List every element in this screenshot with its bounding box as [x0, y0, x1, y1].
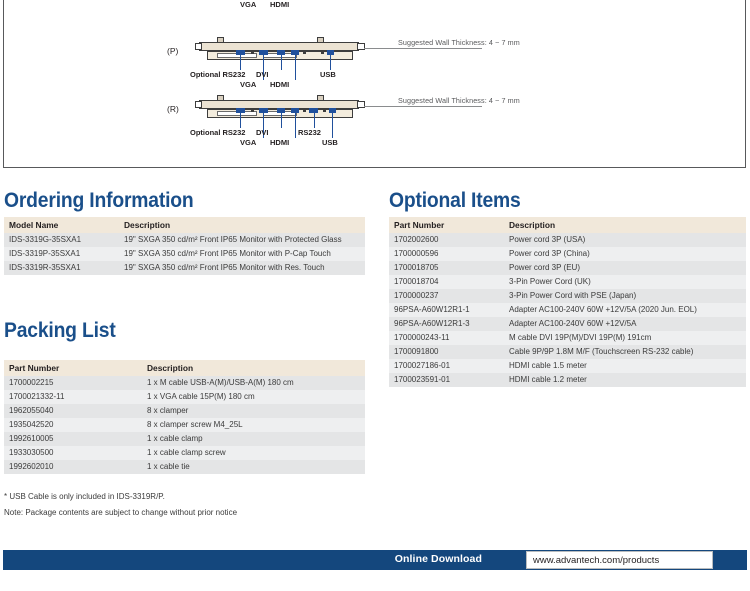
wall-thickness-note: Suggested Wall Thickness: 4 ~ 7 mm: [398, 96, 520, 105]
cell-part-number: 96PSA-A60W12R1-1: [389, 303, 504, 317]
cell-part-number: 1702002600: [389, 233, 504, 247]
table-row: 96PSA-A60W12R1-3 Adapter AC100-240V 60W …: [389, 317, 746, 331]
cell-part-number: 1992602010: [4, 460, 142, 474]
cell-description: 8 x clamper screw M4_25L: [142, 418, 365, 432]
cell-description: Adapter AC100-240V 60W +12V/5A (2020 Jun…: [504, 303, 746, 317]
cell-description: 3-Pin Power Cord (UK): [504, 275, 746, 289]
cell-part-number: 1933030500: [4, 446, 142, 460]
table-row: 1700027186-01 HDMI cable 1.5 meter: [389, 359, 746, 373]
variant-tag-r: (R): [167, 104, 179, 114]
table-row: 1700000237 3-Pin Power Cord with PSE (Ja…: [389, 289, 746, 303]
cell-part-number: 1700023591-01: [389, 373, 504, 387]
cell-description: 1 x cable clamp: [142, 432, 365, 446]
callout-label: HDMI: [270, 138, 289, 147]
diagram-row-3: (R): [4, 98, 746, 154]
callout-label: USB: [320, 70, 336, 79]
table-row: IDS-3319P-35SXA1 19" SXGA 350 cd/m² Fron…: [4, 247, 365, 261]
cell-description: 1 x M cable USB-A(M)/USB-A(M) 180 cm: [142, 376, 365, 390]
packing-footnote-note: Note: Package contents are subject to ch…: [4, 508, 237, 517]
callout-label: RS232: [298, 128, 321, 137]
callout-label: HDMI: [270, 0, 289, 9]
table-row: 1962055040 8 x clamper: [4, 404, 365, 418]
diagram-row-2: (P): [4, 40, 746, 96]
callout-label: VGA: [240, 0, 256, 9]
optional-items-heading: Optional Items: [389, 189, 521, 213]
cell-part-number: 1700000243-11: [389, 331, 504, 345]
callout-label: VGA: [240, 138, 256, 147]
table-row: 1933030500 1 x cable clamp screw: [4, 446, 365, 460]
diagram-row-1: Optional RS232 VGA DVI HDMI Suggested Wa…: [4, 0, 746, 34]
column-header-description: Description: [504, 217, 746, 233]
table-row: IDS-3319R-35SXA1 19" SXGA 350 cd/m² Fron…: [4, 261, 365, 275]
table-row: 1700002215 1 x M cable USB-A(M)/USB-A(M)…: [4, 376, 365, 390]
packing-list-table: Part Number Description 1700002215 1 x M…: [4, 360, 365, 474]
callout-label: Optional RS232: [190, 128, 245, 137]
table-row: 1992602010 1 x cable tie: [4, 460, 365, 474]
mounting-diagram-panel: Optional RS232 VGA DVI HDMI Suggested Wa…: [3, 0, 746, 168]
optional-items-table: Part Number Description 1702002600 Power…: [389, 217, 746, 387]
ordering-information-table: Model Name Description IDS-3319G-35SXA1 …: [4, 217, 365, 275]
cell-description: 19" SXGA 350 cd/m² Front IP65 Monitor wi…: [119, 247, 365, 261]
cell-part-number: 1935042520: [4, 418, 142, 432]
table-row: IDS-3319G-35SXA1 19" SXGA 350 cd/m² Fron…: [4, 233, 365, 247]
table-row: 1700000596 Power cord 3P (China): [389, 247, 746, 261]
table-row: 1700018704 3-Pin Power Cord (UK): [389, 275, 746, 289]
cell-part-number: 1700027186-01: [389, 359, 504, 373]
cell-model-name: IDS-3319R-35SXA1: [4, 261, 119, 275]
column-header-description: Description: [142, 360, 365, 376]
cell-part-number: 1962055040: [4, 404, 142, 418]
table-row: 1992610005 1 x cable clamp: [4, 432, 365, 446]
cell-part-number: 96PSA-A60W12R1-3: [389, 317, 504, 331]
cell-description: 19" SXGA 350 cd/m² Front IP65 Monitor wi…: [119, 261, 365, 275]
table-header-row: Part Number Description: [389, 217, 746, 233]
table-row: 1700021332-11 1 x VGA cable 15P(M) 180 c…: [4, 390, 365, 404]
cell-model-name: IDS-3319P-35SXA1: [4, 247, 119, 261]
cell-description: 8 x clamper: [142, 404, 365, 418]
cell-model-name: IDS-3319G-35SXA1: [4, 233, 119, 247]
callout-label: USB: [322, 138, 338, 147]
cell-description: Power cord 3P (China): [504, 247, 746, 261]
cell-description: 1 x VGA cable 15P(M) 180 cm: [142, 390, 365, 404]
callout-label: DVI: [256, 128, 269, 137]
cell-description: Adapter AC100-240V 60W +12V/5A: [504, 317, 746, 331]
cell-part-number: 1700018704: [389, 275, 504, 289]
cell-part-number: 1700002215: [4, 376, 142, 390]
cell-description: Power cord 3P (USA): [504, 233, 746, 247]
datasheet-page: Optional RS232 VGA DVI HDMI Suggested Wa…: [0, 0, 750, 591]
column-header-part-number: Part Number: [4, 360, 142, 376]
cell-description: 3-Pin Power Cord with PSE (Japan): [504, 289, 746, 303]
callout-label: Optional RS232: [190, 70, 245, 79]
table-header-row: Model Name Description: [4, 217, 365, 233]
column-header-part-number: Part Number: [389, 217, 504, 233]
cell-description: HDMI cable 1.2 meter: [504, 373, 746, 387]
online-download-label: Online Download: [395, 553, 482, 565]
ordering-information-heading: Ordering Information: [4, 189, 194, 213]
table-row: 1935042520 8 x clamper screw M4_25L: [4, 418, 365, 432]
cell-description: 19" SXGA 350 cd/m² Front IP65 Monitor wi…: [119, 233, 365, 247]
cell-part-number: 1992610005: [4, 432, 142, 446]
cell-part-number: 1700021332-11: [4, 390, 142, 404]
cell-part-number: 1700091800: [389, 345, 504, 359]
column-header-model-name: Model Name: [4, 217, 119, 233]
table-header-row: Part Number Description: [4, 360, 365, 376]
callout-label: DVI: [256, 70, 269, 79]
online-download-url[interactable]: www.advantech.com/products: [526, 551, 713, 569]
table-row: 1700000243-11 M cable DVI 19P(M)/DVI 19P…: [389, 331, 746, 345]
callout-label: VGA: [240, 80, 256, 89]
cell-description: M cable DVI 19P(M)/DVI 19P(M) 191cm: [504, 331, 746, 345]
table-row: 1702002600 Power cord 3P (USA): [389, 233, 746, 247]
table-row: 96PSA-A60W12R1-1 Adapter AC100-240V 60W …: [389, 303, 746, 317]
packing-footnote-usb: * USB Cable is only included in IDS-3319…: [4, 492, 165, 501]
cell-description: 1 x cable clamp screw: [142, 446, 365, 460]
cell-part-number: 1700000596: [389, 247, 504, 261]
callout-label: HDMI: [270, 80, 289, 89]
cell-description: Power cord 3P (EU): [504, 261, 746, 275]
cell-description: HDMI cable 1.5 meter: [504, 359, 746, 373]
cell-part-number: 1700000237: [389, 289, 504, 303]
table-row: 1700023591-01 HDMI cable 1.2 meter: [389, 373, 746, 387]
cell-part-number: 1700018705: [389, 261, 504, 275]
packing-list-heading: Packing List: [4, 319, 116, 343]
wall-thickness-note: Suggested Wall Thickness: 4 ~ 7 mm: [398, 38, 520, 47]
column-header-description: Description: [119, 217, 365, 233]
variant-tag-p: (P): [167, 46, 178, 56]
cell-description: Cable 9P/9P 1.8M M/F (Touchscreen RS-232…: [504, 345, 746, 359]
cell-description: 1 x cable tie: [142, 460, 365, 474]
table-row: 1700018705 Power cord 3P (EU): [389, 261, 746, 275]
table-row: 1700091800 Cable 9P/9P 1.8M M/F (Touchsc…: [389, 345, 746, 359]
